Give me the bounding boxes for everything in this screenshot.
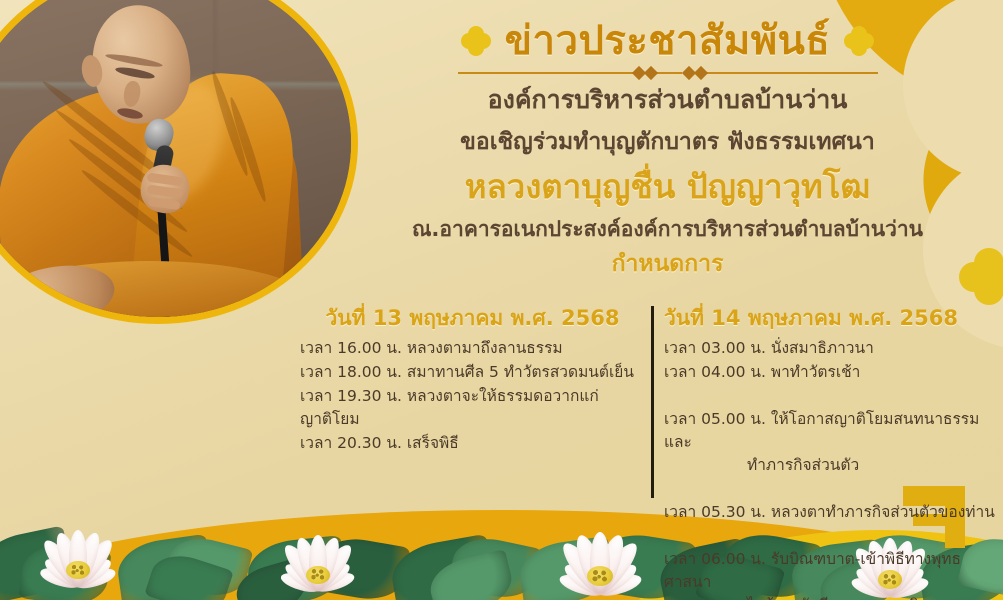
schedule-date-day2: วันที่ 14 พฤษภาคม พ.ศ. 2568 [664,306,996,331]
quatrefoil-icon-left [461,26,491,56]
banner-title-row: ข่าวประชาสัมพันธ์ [345,18,990,64]
monk-portrait-photo [0,0,358,324]
venue-text: ณ.อาคารอเนกประสงค์องค์การบริหารส่วนตำบลบ… [345,216,990,243]
schedule-date-day1: วันที่ 13 พฤษภาคม พ.ศ. 2568 [300,306,645,331]
header-block: ข่าวประชาสัมพันธ์ องค์การบริหารส่วนตำบลบ… [345,18,990,280]
schedule-column-day1: วันที่ 13 พฤษภาคม พ.ศ. 2568 เวลา 16.00 น… [300,306,645,456]
lotus-seed-pod [66,561,90,579]
poster-canvas: ข่าวประชาสัมพันธ์ องค์การบริหารส่วนตำบลบ… [0,0,1003,600]
lotus-flower [27,511,128,594]
schedule-column-day2: วันที่ 14 พฤษภาคม พ.ศ. 2568 เวลา 03.00 น… [664,306,996,600]
schedule-item: เวลา 06.00 น. รับบิณฑบาต-เข้าพิธีทางพุทธ… [664,525,996,600]
agenda-heading: กำหนดการ [345,250,990,280]
schedule-item: เวลา 19.30 น. หลวงตาจะให้ธรรมดอวากแก่ญาต… [300,385,645,431]
column-divider [651,306,654,498]
monk-name: หลวงตาบุญชื่น ปัญญาวุทโฒ [345,166,990,207]
quatrefoil-icon-right [844,26,874,56]
schedule-item-continuation: ไหว้พระรับศีลถวายทาน พิจารณา อาหาร อนุโม… [664,594,996,600]
schedule-item: เวลา 04.00 น. พาทำวัตรเช้า [664,361,996,384]
portrait-background [0,0,351,317]
schedule-item: เวลา 20.30 น. เสร็จพิธี [300,432,645,455]
schedule-item: เวลา 05.00 น. ให้โอกาสญาติโยมสนทนาธรรมแล… [664,385,996,500]
banner-title: ข่าวประชาสัมพันธ์ [505,18,831,64]
schedule-item-main: เวลา 05.00 น. ให้โอกาสญาติโยมสนทนาธรรมแล… [664,410,979,451]
schedule-item: เวลา 18.00 น. สมาทานศีล 5 ทำวัตรสวดมนต์เ… [300,361,645,384]
lotus-seed-pod [306,566,329,584]
lotus-seed-pod [587,566,613,586]
schedule-item: เวลา 16.00 น. หลวงตามาถึงลานธรรม [300,337,645,360]
invitation-text: ขอเชิญร่วมทำบุญตักบาตร ฟังธรรมเทศนา [345,128,990,158]
schedule-item: เวลา 03.00 น. นั่งสมาธิภาวนา [664,337,996,360]
schedule-item-main: เวลา 06.00 น. รับบิณฑบาต-เข้าพิธีทางพุทธ… [664,550,961,591]
schedule-item-continuation: ทำภารกิจส่วนตัว [664,454,996,477]
schedule-item: เวลา 05.30 น. หลวงตาทำภารกิจส่วนตัวของท่… [664,501,996,524]
lotus-flower [545,512,655,600]
organization-name: องค์การบริหารส่วนตำบลบ้านว่าน [345,84,990,117]
title-divider-ornament [458,66,878,80]
